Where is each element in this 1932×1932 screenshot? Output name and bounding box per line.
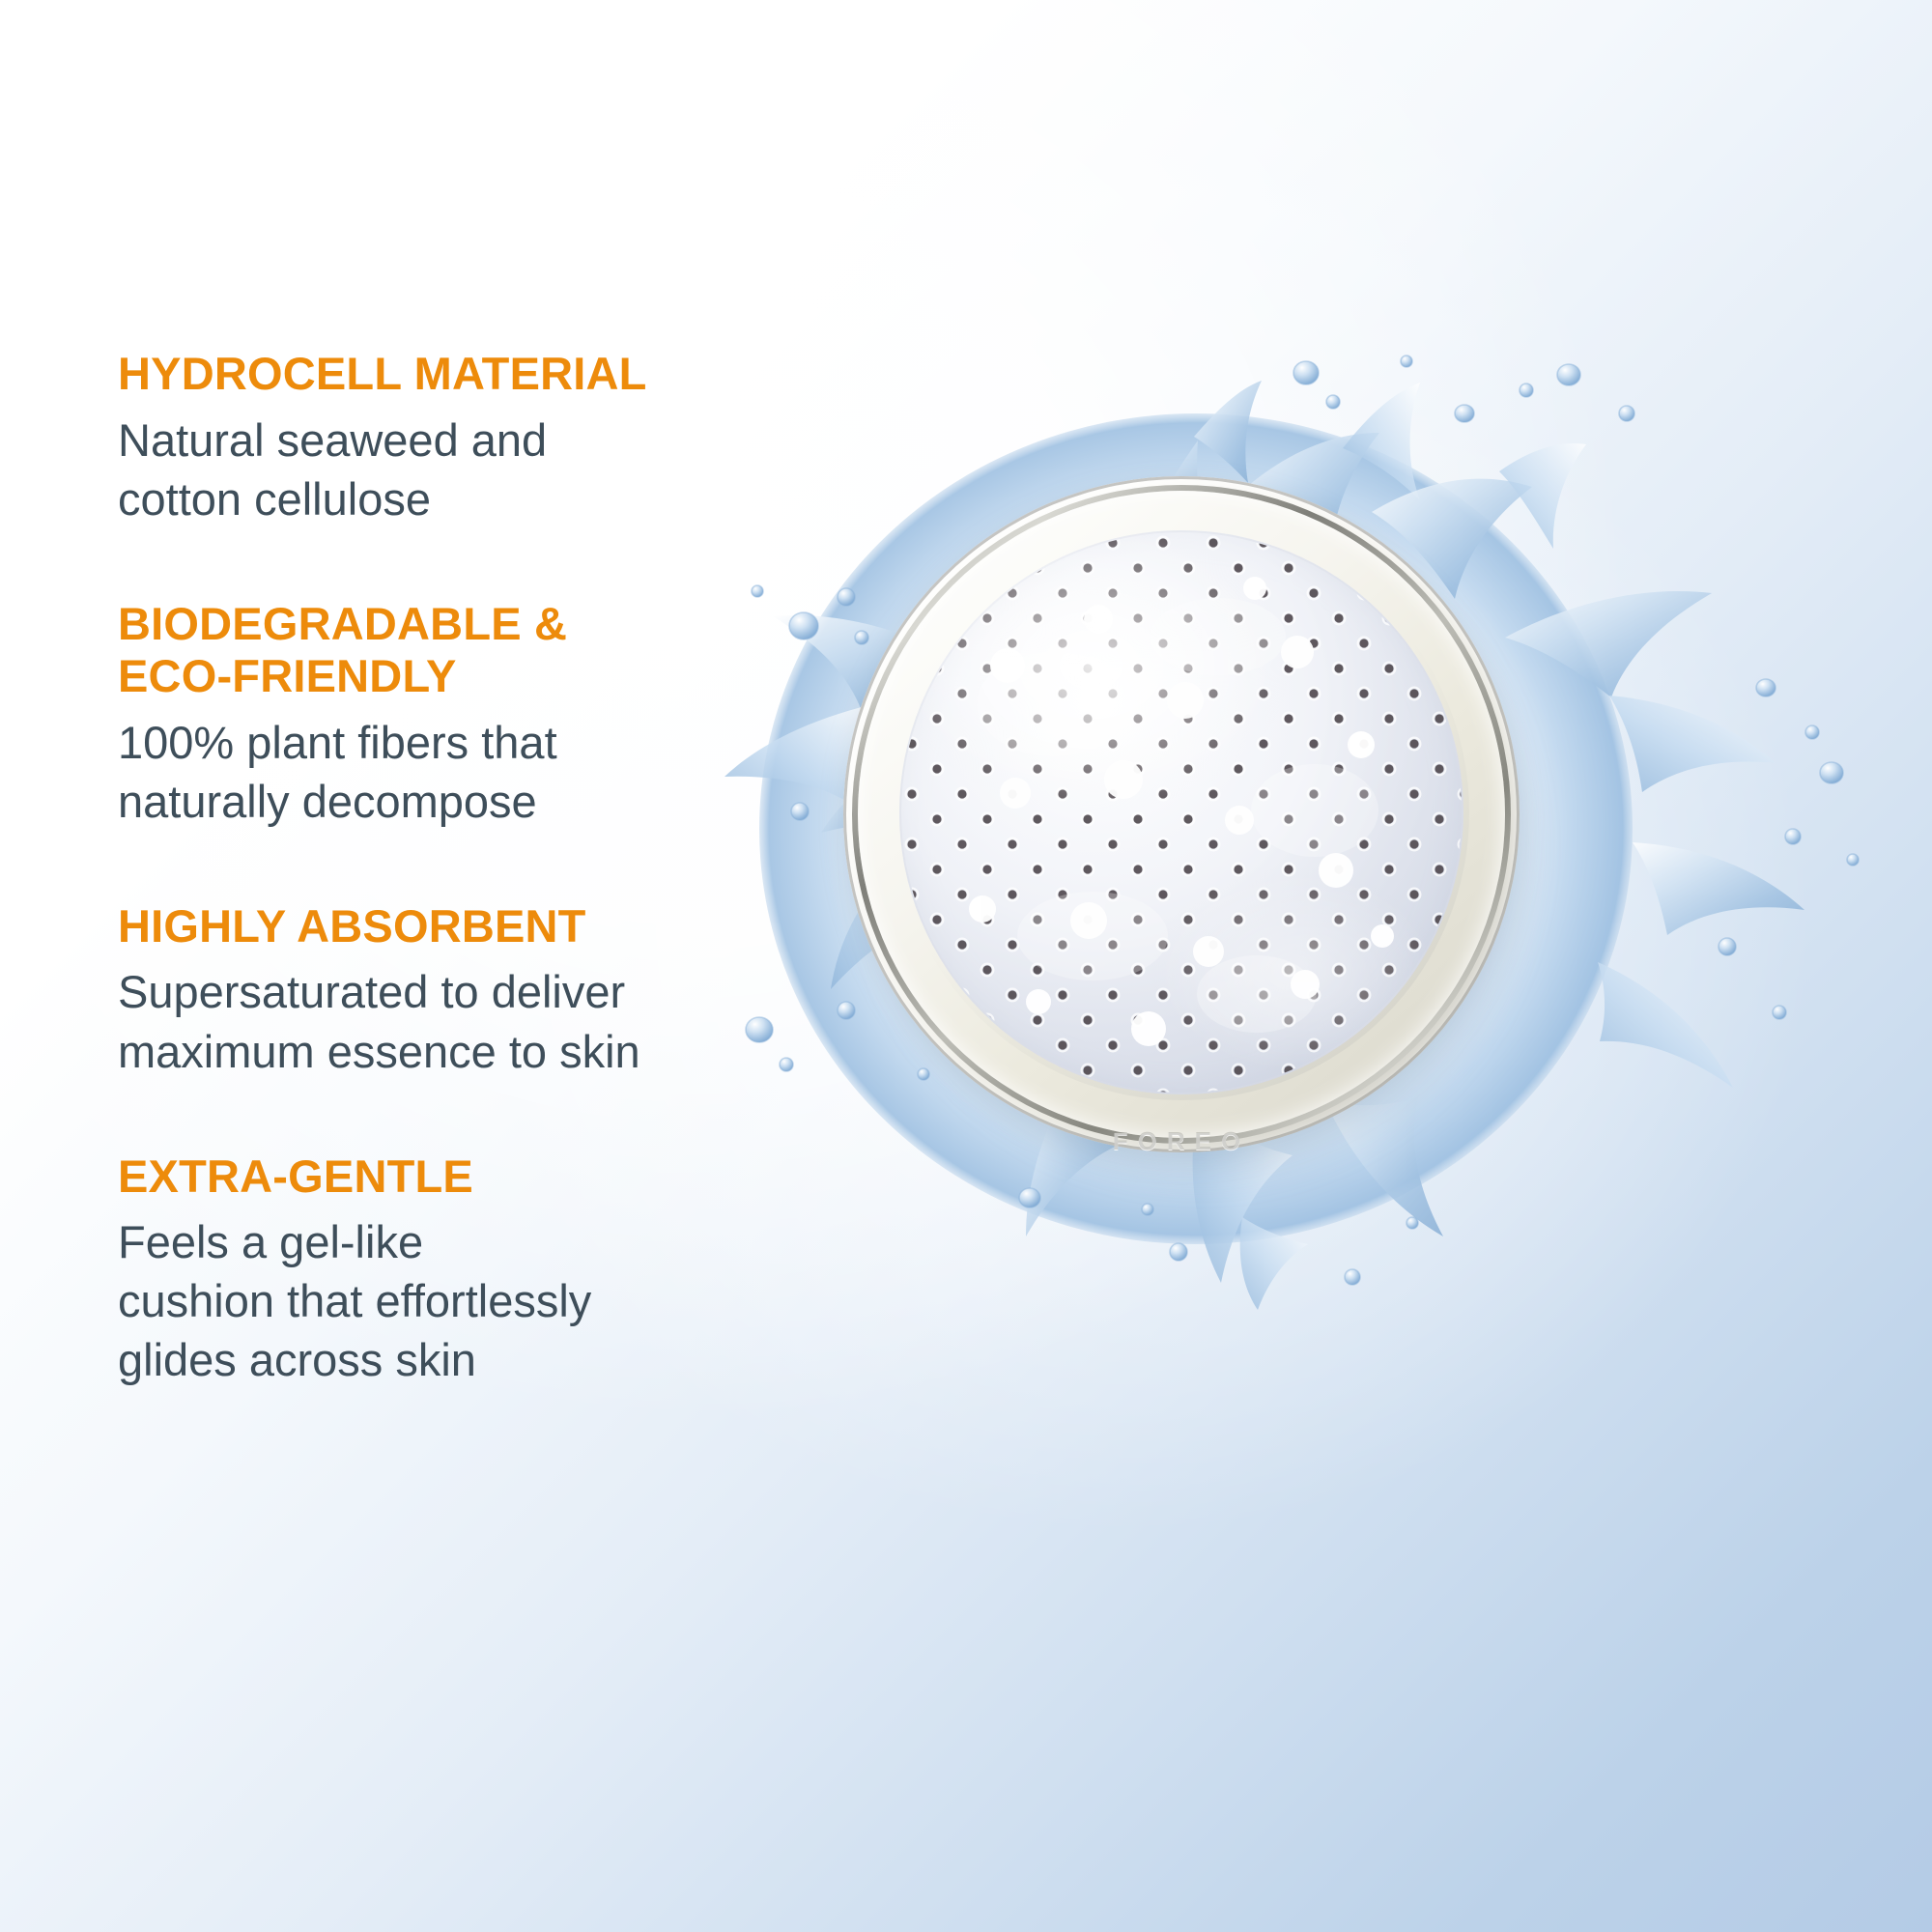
disc-perforated-face — [899, 530, 1463, 1094]
product-image: FOREO — [657, 348, 1903, 1314]
mask-disc: FOREO — [843, 476, 1548, 1181]
perforation-pattern — [899, 530, 1463, 1094]
infographic-canvas: HYDROCELL MATERIAL Natural seaweed and c… — [0, 0, 1932, 1932]
